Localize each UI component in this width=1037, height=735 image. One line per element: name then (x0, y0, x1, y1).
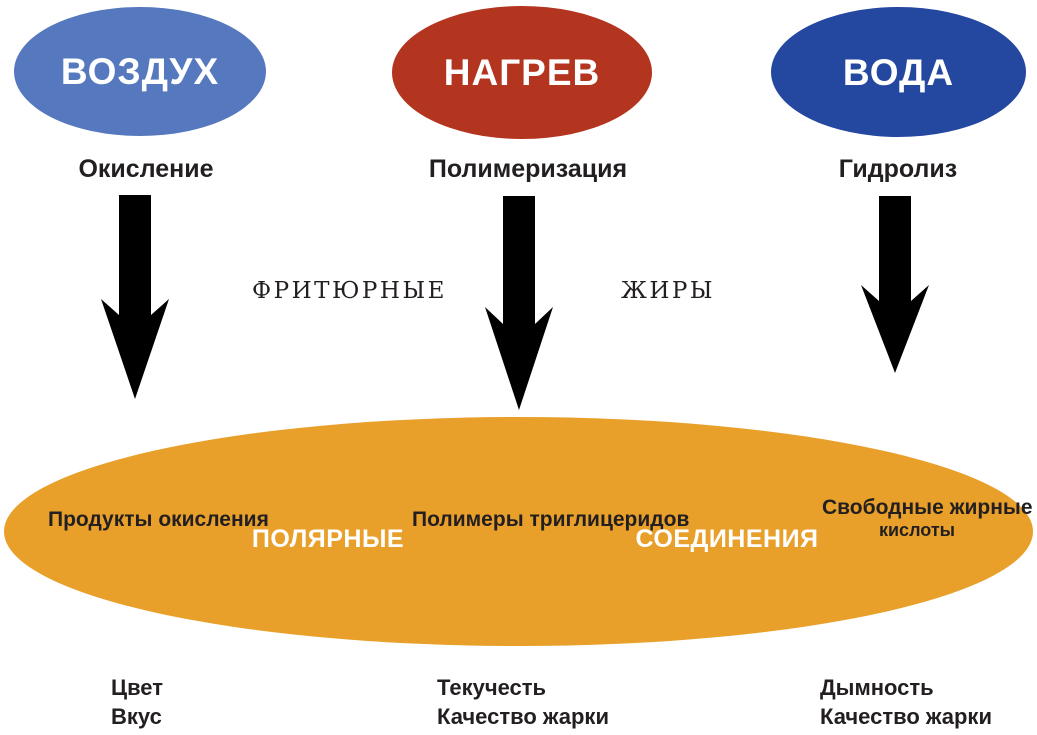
source-ellipse-heat: НАГРЕВ (392, 6, 652, 139)
source-ellipse-water: ВОДА (771, 7, 1026, 137)
down-arrow-icon-right (860, 196, 930, 374)
effect-item: Качество жарки (820, 703, 992, 732)
effect-item: Цвет (111, 674, 163, 703)
oval-item-line: кислоты (822, 520, 1012, 540)
source-label-heat: НАГРЕВ (444, 54, 601, 91)
oval-item-line: Продукты (48, 508, 152, 531)
process-label-polymerization: Полимеризация (382, 157, 674, 182)
effects-group-air: Цвет Вкус (111, 674, 163, 731)
process-label-hydrolysis: Гидролиз (752, 157, 1037, 182)
effect-item: Вкус (111, 703, 163, 732)
oval-word-soedineniya: СОЕДИНЕНИЯ (612, 525, 842, 553)
source-label-air: ВОЗДУХ (61, 53, 219, 90)
down-arrow-icon-middle (484, 196, 554, 411)
oval-item-line: Свободные (822, 496, 944, 519)
oval-item-triglyceride-polymers: Полимеры триглицеридов (412, 508, 622, 532)
effect-item: Качество жарки (437, 703, 609, 732)
oval-item-line: жирные (950, 496, 1033, 519)
oval-item-free-fatty-acids: Свободные жирные кислоты (822, 496, 1012, 540)
effects-group-water: Дымность Качество жарки (820, 674, 992, 731)
effect-item: Текучесть (437, 674, 609, 703)
process-label-oxidation: Окисление (0, 157, 292, 182)
down-arrow-icon-left (100, 195, 170, 400)
oval-word-polyarnye: ПОЛЯРНЫЕ (228, 525, 428, 553)
headline-word-fritjurnye: ФРИТЮРНЫЕ (252, 280, 447, 303)
source-ellipse-air: ВОЗДУХ (14, 7, 266, 136)
oval-item-oxidation-products: Продукты окисления (48, 508, 248, 532)
diagram-canvas: ВОЗДУХ НАГРЕВ ВОДА Окисление Полимеризац… (0, 0, 1037, 735)
effect-item: Дымность (820, 674, 992, 703)
oval-item-line: Полимеры (412, 508, 524, 531)
source-label-water: ВОДА (843, 54, 954, 91)
headline-word-zhiry: ЖИРЫ (621, 280, 715, 303)
effects-group-heat: Текучесть Качество жарки (437, 674, 609, 731)
